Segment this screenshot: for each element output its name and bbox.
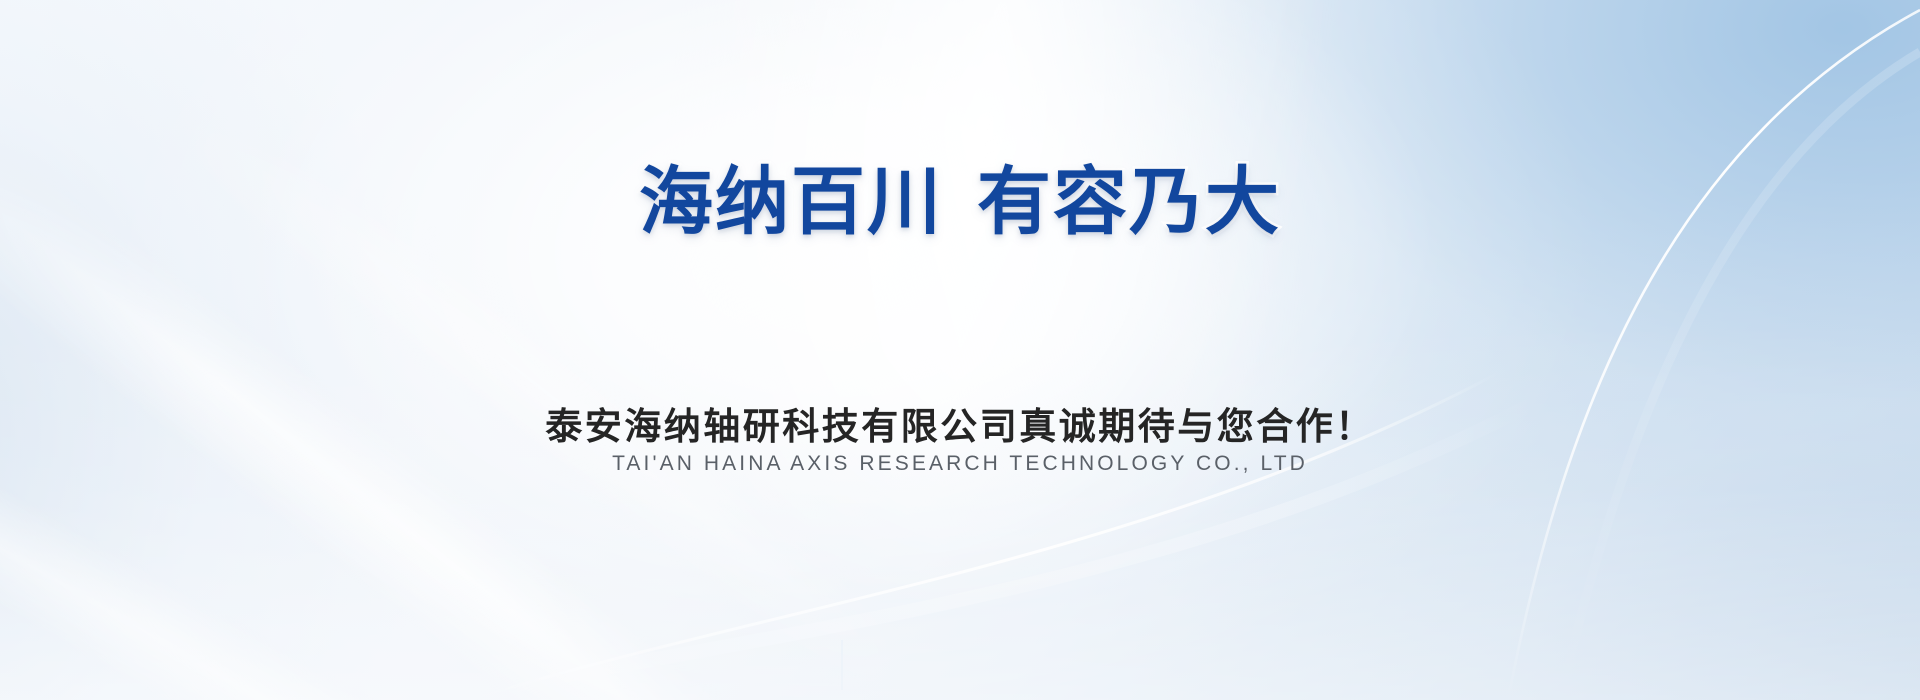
banner-subtitle-chinese: 泰安海纳轴研科技有限公司真诚期待与您合作！ <box>0 396 1920 450</box>
banner-headline: 海纳百川有容乃大 <box>0 162 1920 242</box>
headline-part-1: 海纳百川 <box>639 160 943 243</box>
headline-part-2: 有容乃大 <box>977 160 1281 243</box>
hero-banner: 海纳百川有容乃大 泰安海纳轴研科技有限公司真诚期待与您合作！ TAI'AN HA… <box>0 0 1920 700</box>
banner-subtitle-english: TAI'AN HAINA AXIS RESEARCH TECHNOLOGY CO… <box>0 452 1920 476</box>
banner-content: 海纳百川有容乃大 泰安海纳轴研科技有限公司真诚期待与您合作！ TAI'AN HA… <box>0 0 1920 700</box>
